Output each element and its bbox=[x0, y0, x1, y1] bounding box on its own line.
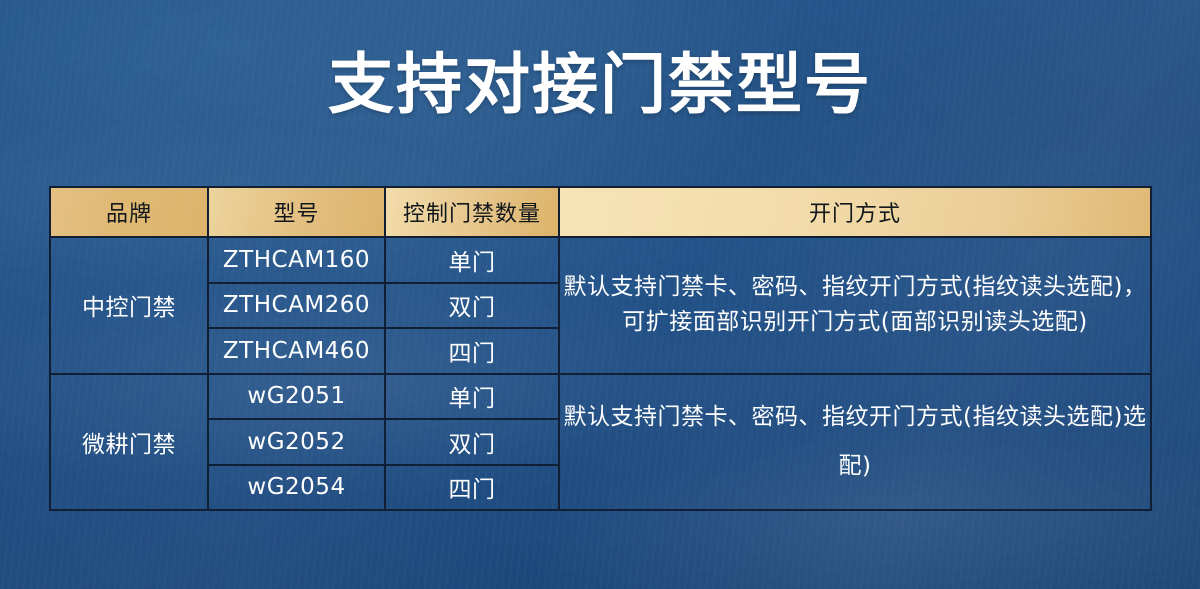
brand-cell-zhongkong: 中控门禁 bbox=[50, 237, 208, 374]
open-method-cell-zhongkong: 默认支持门禁卡、密码、指纹开门方式(指纹读头选配)，可扩接面部识别开门方式(面部… bbox=[559, 237, 1151, 374]
table-header-row: 品牌 型号 控制门禁数量 开门方式 bbox=[50, 187, 1151, 237]
access-control-models-table: 品牌 型号 控制门禁数量 开门方式 中控门禁 ZTHCAM160 单门 默认支持… bbox=[49, 186, 1152, 511]
door-count-cell: 四门 bbox=[385, 328, 559, 374]
table-row: 中控门禁 ZTHCAM160 单门 默认支持门禁卡、密码、指纹开门方式(指纹读头… bbox=[50, 237, 1151, 283]
open-method-cell-weigeng: 默认支持门禁卡、密码、指纹开门方式(指纹读头选配)选配) bbox=[559, 374, 1151, 511]
page-title: 支持对接门禁型号 bbox=[0, 47, 1200, 123]
model-cell: ZTHCAM160 bbox=[208, 237, 385, 283]
door-count-cell: 四门 bbox=[385, 465, 559, 511]
model-cell: ZTHCAM260 bbox=[208, 283, 385, 329]
column-header-door-count: 控制门禁数量 bbox=[385, 187, 559, 237]
table-row: 微耕门禁 wG2051 单门 默认支持门禁卡、密码、指纹开门方式(指纹读头选配)… bbox=[50, 374, 1151, 420]
column-header-model: 型号 bbox=[208, 187, 385, 237]
model-cell: wG2051 bbox=[208, 374, 385, 420]
column-header-open-method: 开门方式 bbox=[559, 187, 1151, 237]
model-cell: wG2052 bbox=[208, 419, 385, 465]
brand-cell-weigeng: 微耕门禁 bbox=[50, 374, 208, 511]
model-cell: ZTHCAM460 bbox=[208, 328, 385, 374]
column-header-brand: 品牌 bbox=[50, 187, 208, 237]
door-count-cell: 双门 bbox=[385, 283, 559, 329]
door-count-cell: 单门 bbox=[385, 374, 559, 420]
model-cell: wG2054 bbox=[208, 465, 385, 511]
door-count-cell: 单门 bbox=[385, 237, 559, 283]
door-count-cell: 双门 bbox=[385, 419, 559, 465]
